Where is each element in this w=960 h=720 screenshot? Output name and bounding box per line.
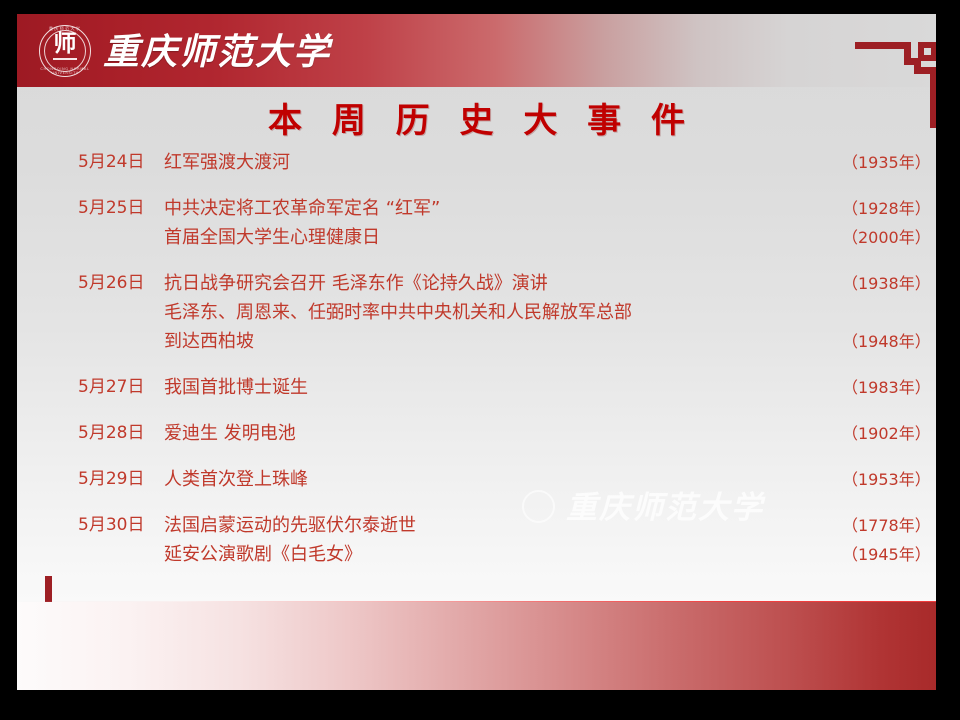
- event-description: 毛泽东、周恩来、任弼时率中共中央机关和人民解放军总部: [164, 298, 632, 327]
- event-description: 人类首次登上珠峰: [164, 465, 308, 494]
- event-line: 人类首次登上珠峰（1953年）: [164, 465, 936, 494]
- slide-outer-frame: 重庆师范大学 师 CHONGQING NORMAL UNIVERSITY 重庆师…: [0, 0, 960, 720]
- event-description: 首届全国大学生心理健康日: [164, 223, 380, 252]
- event-row: 5月26日抗日战争研究会召开 毛泽东作《论持久战》演讲（1938年）毛泽东、周恩…: [17, 269, 936, 356]
- event-description: 法国启蒙运动的先驱伏尔泰逝世: [164, 511, 416, 540]
- event-lines: 我国首批博士诞生（1983年）: [164, 373, 936, 402]
- event-line: 我国首批博士诞生（1983年）: [164, 373, 936, 402]
- event-year: （1928年）: [814, 194, 936, 223]
- event-year: （1778年）: [814, 511, 936, 540]
- event-lines: 红军强渡大渡河（1935年）: [164, 148, 936, 177]
- event-date: 5月24日: [78, 148, 164, 177]
- university-name: 重庆师范大学: [103, 32, 331, 72]
- event-year: （1948年）: [814, 327, 936, 356]
- event-date: 5月26日: [78, 269, 164, 298]
- event-year: （1902年）: [814, 419, 936, 448]
- university-seal-icon: 重庆师范大学 师 CHONGQING NORMAL UNIVERSITY: [39, 25, 91, 77]
- presentation-slide: 重庆师范大学 师 CHONGQING NORMAL UNIVERSITY 重庆师…: [17, 14, 936, 690]
- event-row: 5月24日红军强渡大渡河（1935年）: [17, 148, 936, 177]
- event-line: 延安公演歌剧《白毛女》（1945年）: [164, 540, 936, 569]
- event-description: 抗日战争研究会召开 毛泽东作《论持久战》演讲: [164, 269, 548, 298]
- event-description: 我国首批博士诞生: [164, 373, 308, 402]
- event-year: （1935年）: [814, 148, 936, 177]
- event-row: 5月28日爱迪生 发明电池（1902年）: [17, 419, 936, 448]
- event-date: 5月30日: [78, 511, 164, 540]
- event-line: 中共决定将工农革命军定名 “红军”（1928年）: [164, 194, 936, 223]
- seal-micro-text-bottom: CHONGQING NORMAL UNIVERSITY: [39, 67, 91, 75]
- event-year: （1953年）: [814, 465, 936, 494]
- event-line: 毛泽东、周恩来、任弼时率中共中央机关和人民解放军总部: [164, 298, 936, 327]
- bottom-gradient-band: [17, 602, 936, 690]
- event-year: （2000年）: [814, 223, 936, 252]
- event-line: 抗日战争研究会召开 毛泽东作《论持久战》演讲（1938年）: [164, 269, 936, 298]
- event-lines: 法国启蒙运动的先驱伏尔泰逝世（1778年）延安公演歌剧《白毛女》（1945年）: [164, 511, 936, 569]
- event-year: （1945年）: [814, 540, 936, 569]
- event-line: 爱迪生 发明电池（1902年）: [164, 419, 936, 448]
- event-date: 5月25日: [78, 194, 164, 223]
- event-date: 5月28日: [78, 419, 164, 448]
- event-lines: 中共决定将工农革命军定名 “红军”（1928年）首届全国大学生心理健康日（200…: [164, 194, 936, 252]
- event-line: 红军强渡大渡河（1935年）: [164, 148, 936, 177]
- page-title: 本 周 历 史 大 事 件: [17, 100, 936, 142]
- event-description: 到达西柏坡: [164, 327, 254, 356]
- event-row: 5月30日法国启蒙运动的先驱伏尔泰逝世（1778年）延安公演歌剧《白毛女》（19…: [17, 511, 936, 569]
- seal-center-glyph: 师: [39, 33, 91, 56]
- event-description: 爱迪生 发明电池: [164, 419, 296, 448]
- event-lines: 爱迪生 发明电池（1902年）: [164, 419, 936, 448]
- event-description: 中共决定将工农革命军定名 “红军”: [164, 194, 440, 223]
- event-description: 延安公演歌剧《白毛女》: [164, 540, 362, 569]
- event-year: （1938年）: [814, 269, 936, 298]
- event-description: 红军强渡大渡河: [164, 148, 290, 177]
- event-date: 5月29日: [78, 465, 164, 494]
- event-line: 到达西柏坡（1948年）: [164, 327, 936, 356]
- event-line: 法国启蒙运动的先驱伏尔泰逝世（1778年）: [164, 511, 936, 540]
- historical-events-list: 5月24日红军强渡大渡河（1935年）5月25日中共决定将工农革命军定名 “红军…: [17, 148, 936, 586]
- event-lines: 人类首次登上珠峰（1953年）: [164, 465, 936, 494]
- event-row: 5月27日我国首批博士诞生（1983年）: [17, 373, 936, 402]
- event-date: 5月27日: [78, 373, 164, 402]
- seal-base-bar: [53, 58, 77, 60]
- event-lines: 抗日战争研究会召开 毛泽东作《论持久战》演讲（1938年）毛泽东、周恩来、任弼时…: [164, 269, 936, 356]
- event-line: 首届全国大学生心理健康日（2000年）: [164, 223, 936, 252]
- event-row: 5月25日中共决定将工农革命军定名 “红军”（1928年）首届全国大学生心理健康…: [17, 194, 936, 252]
- event-year: （1983年）: [814, 373, 936, 402]
- slide-header-bar: 重庆师范大学 师 CHONGQING NORMAL UNIVERSITY 重庆师…: [17, 14, 936, 87]
- event-row: 5月29日人类首次登上珠峰（1953年）: [17, 465, 936, 494]
